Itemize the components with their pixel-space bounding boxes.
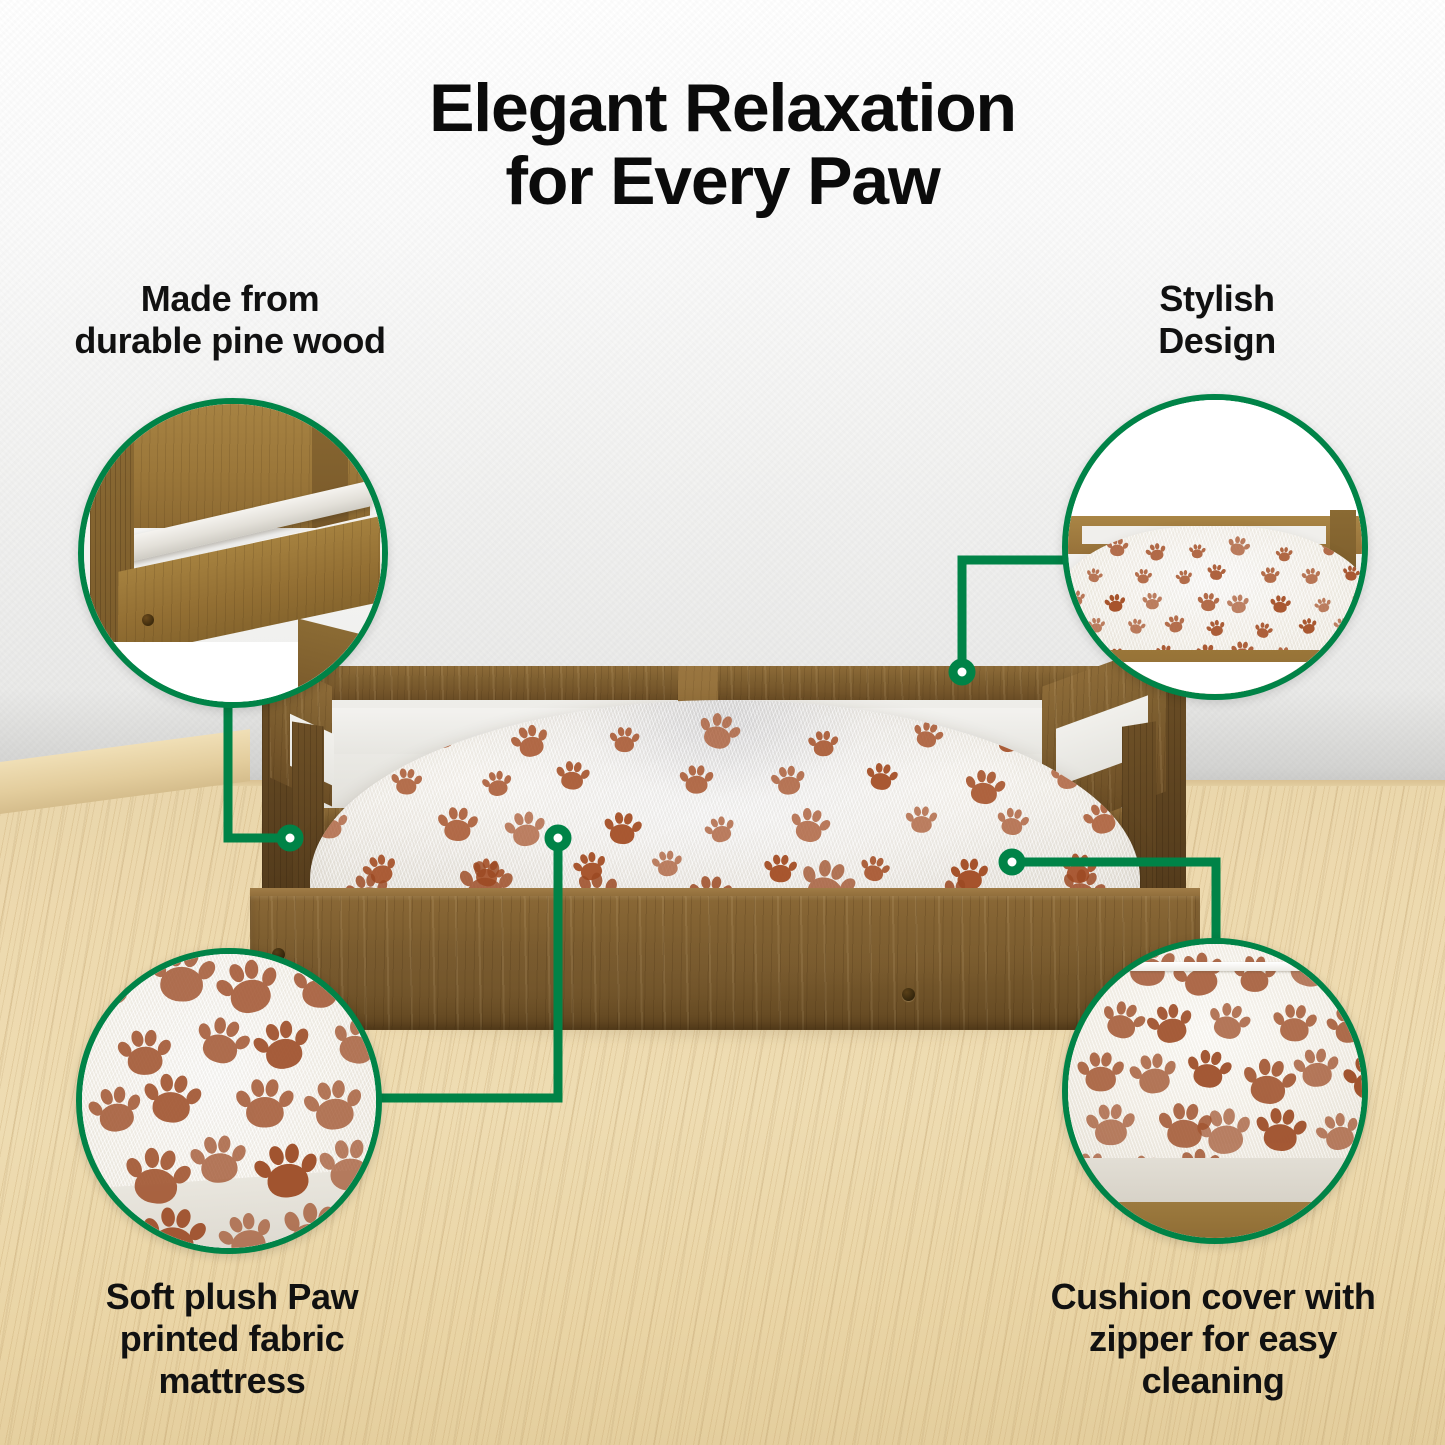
callout-br-hem [1062,1158,1368,1208]
paw-print [807,728,840,761]
title-line-1: Elegant Relaxation [0,72,1445,145]
callout-tr-cushion [1062,526,1368,662]
paw-print [316,1135,382,1201]
screw-head [902,988,915,1001]
paw-print [1066,949,1116,999]
callout-label-line: Soft plush Paw [24,1276,440,1318]
callout-label-line: zipper for easy [1000,1318,1426,1360]
front-panel [250,896,1200,1030]
paw-print [480,767,516,803]
paw-print [1354,540,1368,562]
paw-print [1341,564,1362,585]
callout-label-plush-mattress: Soft plush Paw printed fabric mattress [24,1276,440,1401]
paw-print [1332,616,1352,636]
paw-print [650,848,685,883]
paw-print [299,1074,368,1143]
paw-print [435,804,479,848]
paw-print [145,948,218,1014]
paw-print [248,1013,318,1083]
callout-circle-pine-wood[interactable] [78,398,388,708]
paw-print [1065,542,1085,562]
callout-label-line: Cushion cover with [1000,1276,1426,1318]
paw-print [187,1130,251,1194]
paw-print [290,959,348,1017]
paw-print [1134,567,1153,586]
callout-label-line: printed fabric [24,1318,440,1360]
screw-head [142,614,154,626]
paw-print [1225,592,1251,618]
callout-label-stylish-design: Stylish Design [1052,278,1382,362]
callout-label-line: Design [1052,320,1382,362]
title-line-2: for Every Paw [0,145,1445,218]
paw-print [862,759,900,797]
paw-print [1087,616,1106,635]
paw-print [137,1201,209,1254]
paw-print [388,765,422,799]
paw-print [1300,566,1322,588]
paw-print [419,711,464,756]
paw-print [1196,591,1220,615]
paw-print [1174,568,1194,588]
paw-print [310,806,348,845]
paw-print [600,808,643,851]
paw-print [608,725,640,757]
paw-print [768,762,808,802]
callout-label-zipper-cover: Cushion cover with zipper for easy clean… [1000,1276,1426,1401]
paw-print [1105,536,1129,560]
page-title: Elegant Relaxation for Every Paw [0,72,1445,218]
paw-print [327,722,362,757]
paw-print [77,955,140,1018]
paw-print [1103,592,1128,617]
paw-print [678,763,714,799]
callout-circle-plush-mattress[interactable] [76,948,382,1254]
paw-print [84,1080,148,1144]
callout-label-line: cleaning [1000,1360,1426,1402]
zipper-strip [1126,962,1312,971]
callout-label-pine-wood: Made from durable pine wood [12,278,448,362]
paw-print [76,1199,139,1254]
callout-label-line: Made from [12,278,448,320]
paw-print [1275,545,1294,564]
callout-label-line: durable pine wood [12,320,448,362]
paw-print [763,852,798,887]
callout-label-line: mattress [24,1360,440,1402]
callout-br-base-wood [1062,1202,1368,1244]
back-top-rail [272,666,1176,700]
paw-print [1125,616,1146,637]
product-dog-bed [250,620,1200,1040]
paw-print [1188,543,1206,561]
paw-print [1268,593,1291,616]
paw-print [552,758,591,797]
paw-print [234,1075,295,1136]
paw-print [1126,1048,1182,1104]
paw-print [904,804,937,837]
callout-circle-zipper-cover[interactable] [1062,938,1368,1244]
paw-print [1290,1044,1341,1095]
infographic-canvas: Elegant Relaxation for Every Paw Made fr… [0,0,1445,1445]
paw-print [1066,589,1086,609]
callout-tr-white-top [1068,400,1362,520]
callout-label-line: Stylish [1052,278,1382,320]
paw-print [1141,591,1162,612]
paw-print [1083,1100,1136,1153]
callout-circle-stylish-design[interactable] [1062,394,1368,700]
paw-print [138,1067,205,1134]
paw-print [1075,1050,1124,1099]
paw-print [988,720,1028,760]
paw-print [1048,758,1085,795]
paw-print [1231,952,1277,998]
paw-print [1181,1045,1234,1098]
paw-print [1261,566,1281,586]
paw-print [785,803,834,852]
paw-print [1270,1000,1319,1049]
paw-print [501,807,549,855]
paw-print [993,804,1032,843]
paw-print [1205,563,1226,584]
